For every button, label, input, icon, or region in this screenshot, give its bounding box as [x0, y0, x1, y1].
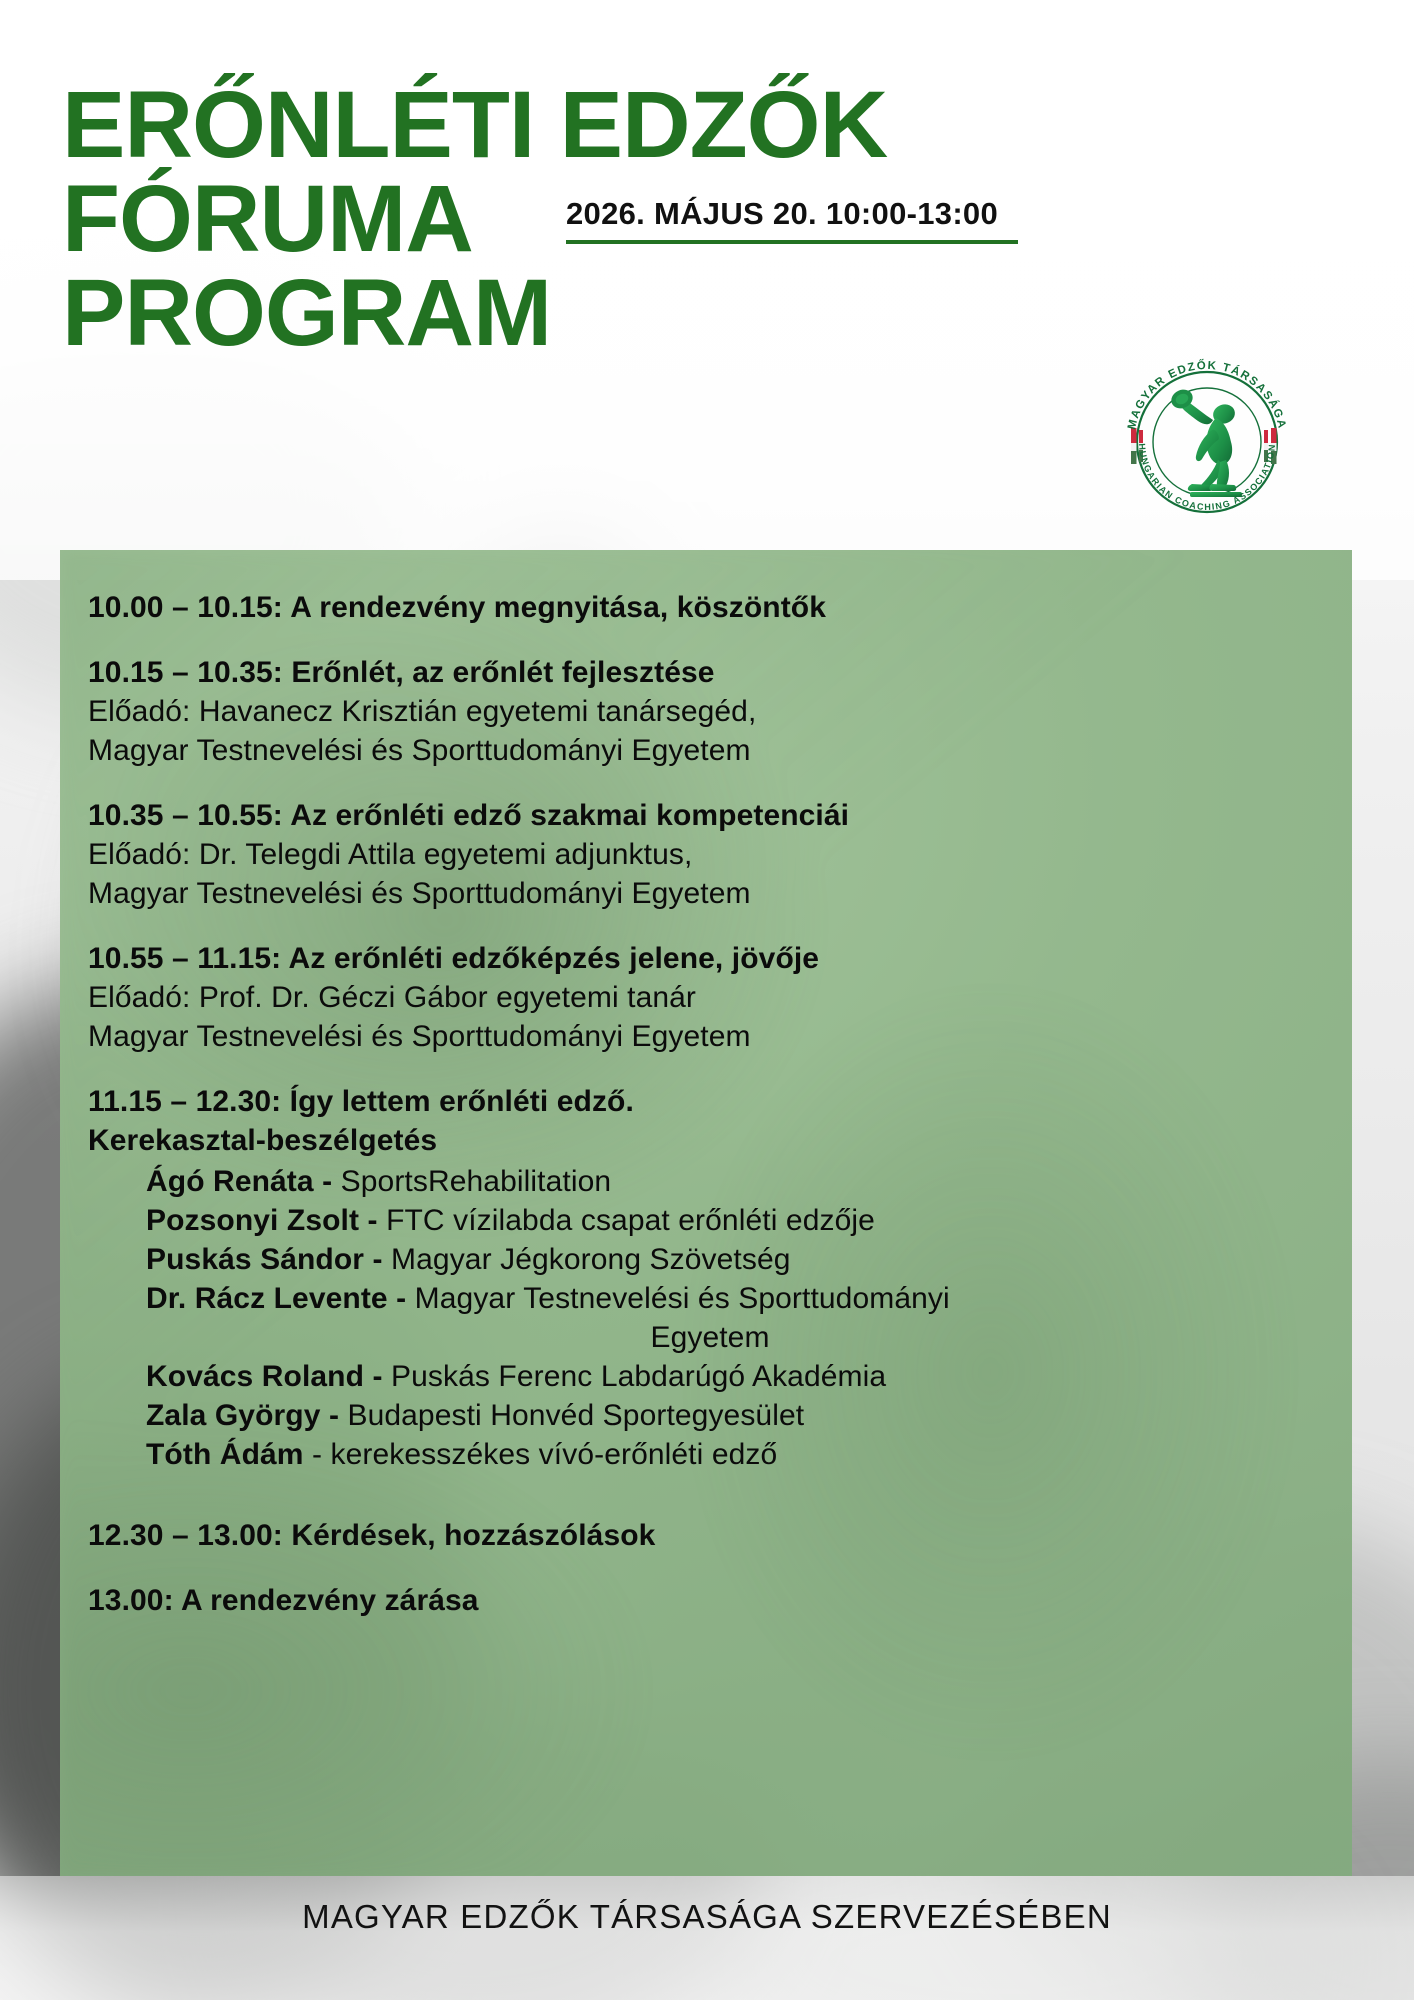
poster-root: ERŐNLÉTI EDZŐK FÓRUMA PROGRAM 2026. MÁJU… — [0, 0, 1414, 2000]
program-item-headline: 12.30 – 13.00: Kérdések, hozzászólások — [88, 1516, 1334, 1555]
panelist-name: Zala György — [146, 1399, 321, 1432]
panelist-name: Tóth Ádám — [146, 1438, 304, 1471]
program-item-detail: Előadó: Dr. Telegdi Attila egyetemi adju… — [88, 835, 1334, 874]
panelist-dash: - — [368, 1204, 378, 1237]
poster-header: ERŐNLÉTI EDZŐK FÓRUMA PROGRAM 2026. MÁJU… — [0, 0, 1414, 560]
title-line-3: PROGRAM — [62, 266, 1072, 360]
program-item: 10.00 – 10.15: A rendezvény megnyitása, … — [88, 588, 1334, 627]
panelist-dash: - — [312, 1438, 322, 1471]
panelist-dash: - — [322, 1165, 332, 1198]
event-date-text: 2026. MÁJUS 20. 10:00-13:00 — [566, 196, 1036, 238]
program-panel: 10.00 – 10.15: A rendezvény megnyitása, … — [60, 550, 1352, 1876]
program-item-headline: 13.00: A rendezvény zárása — [88, 1581, 1334, 1620]
panelist-org: Puskás Ferenc Labdarúgó Akadémia — [391, 1360, 886, 1393]
program-item-detail: Előadó: Havanecz Krisztián egyetemi taná… — [88, 692, 1334, 731]
roundtable-item: 11.15 – 12.30: Így lettem erőnléti edző.… — [88, 1082, 1334, 1474]
roundtable-panelist: Ágó Renáta - SportsRehabilitation — [146, 1162, 1334, 1201]
program-item-headline: 10.55 – 11.15: Az erőnléti edzőképzés je… — [88, 939, 1334, 978]
background-footer-wash — [0, 1876, 1414, 2000]
panelist-dash: - — [396, 1282, 406, 1315]
panelist-dash: - — [329, 1399, 339, 1432]
roundtable-panelist: Dr. Rácz Levente - Magyar Testnevelési é… — [146, 1279, 1334, 1357]
panelist-org: SportsRehabilitation — [341, 1165, 612, 1198]
program-item: 10.15 – 10.35: Erőnlét, az erőnlét fejle… — [88, 653, 1334, 770]
program-item-headline: 10.35 – 10.55: Az erőnléti edző szakmai … — [88, 796, 1334, 835]
panelist-name: Puskás Sándor — [146, 1243, 364, 1276]
panelist-org-continued: Egyetem — [146, 1318, 1334, 1357]
panelist-org: Magyar Jégkorong Szövetség — [391, 1243, 791, 1276]
panelist-dash: - — [372, 1360, 382, 1393]
discus-thrower-icon — [1168, 386, 1242, 497]
title-line-1: ERŐNLÉTI EDZŐK — [62, 78, 1072, 172]
date-underline-rule — [566, 240, 1018, 244]
panelist-org: Budapesti Honvéd Sportegyesület — [347, 1399, 804, 1432]
logo-bottom-arc-text: HUNGARIAN COACHING ASSOCIATION — [1137, 443, 1277, 512]
panelist-name: Kovács Roland — [146, 1360, 364, 1393]
event-date-block: 2026. MÁJUS 20. 10:00-13:00 — [566, 196, 1036, 244]
roundtable-panelist: Pozsonyi Zsolt - FTC vízilabda csapat er… — [146, 1201, 1334, 1240]
roundtable-panelist: Tóth Ádám - kerekesszékes vívó-erőnléti … — [146, 1435, 1334, 1474]
roundtable-headline-line2: Kerekasztal-beszélgetés — [88, 1121, 1334, 1160]
panelist-org: kerekesszékes vívó-erőnléti edző — [331, 1438, 778, 1471]
panelist-name: Dr. Rácz Levente — [146, 1282, 388, 1315]
program-item-detail: Előadó: Prof. Dr. Géczi Gábor egyetemi t… — [88, 978, 1334, 1017]
roundtable-panelist: Puskás Sándor - Magyar Jégkorong Szövets… — [146, 1240, 1334, 1279]
panelist-name: Pozsonyi Zsolt — [146, 1204, 359, 1237]
panelist-org: Magyar Testnevelési és Sporttudományi — [415, 1282, 950, 1315]
program-list: 10.00 – 10.15: A rendezvény megnyitása, … — [88, 588, 1334, 1866]
program-item: 12.30 – 13.00: Kérdések, hozzászólások — [88, 1516, 1334, 1555]
program-item-detail: Magyar Testnevelési és Sporttudományi Eg… — [88, 731, 1334, 770]
roundtable-panelist-list: Ágó Renáta - SportsRehabilitation Pozson… — [88, 1162, 1334, 1474]
association-logo: MAGYAR EDZŐK TÁRSASÁGA HUNGARIAN COACHIN… — [1112, 356, 1302, 516]
program-item: 13.00: A rendezvény zárása — [88, 1581, 1334, 1620]
program-item: 10.35 – 10.55: Az erőnléti edző szakmai … — [88, 796, 1334, 913]
program-item-detail: Magyar Testnevelési és Sporttudományi Eg… — [88, 874, 1334, 913]
roundtable-headline-line1: 11.15 – 12.30: Így lettem erőnléti edző. — [88, 1082, 1334, 1121]
panelist-name: Ágó Renáta — [146, 1165, 314, 1198]
roundtable-panelist: Zala György - Budapesti Honvéd Sportegye… — [146, 1396, 1334, 1435]
program-item-headline: 10.00 – 10.15: A rendezvény megnyitása, … — [88, 588, 1334, 627]
panelist-org: FTC vízilabda csapat erőnléti edzője — [386, 1204, 875, 1237]
panelist-dash: - — [373, 1243, 383, 1276]
program-item: 10.55 – 11.15: Az erőnléti edzőképzés je… — [88, 939, 1334, 1056]
program-item-detail: Magyar Testnevelési és Sporttudományi Eg… — [88, 1017, 1334, 1056]
organizer-footer: MAGYAR EDZŐK TÁRSASÁGA SZERVEZÉSÉBEN — [0, 1898, 1414, 1936]
roundtable-panelist: Kovács Roland - Puskás Ferenc Labdarúgó … — [146, 1357, 1334, 1396]
program-item-headline: 10.15 – 10.35: Erőnlét, az erőnlét fejle… — [88, 653, 1334, 692]
